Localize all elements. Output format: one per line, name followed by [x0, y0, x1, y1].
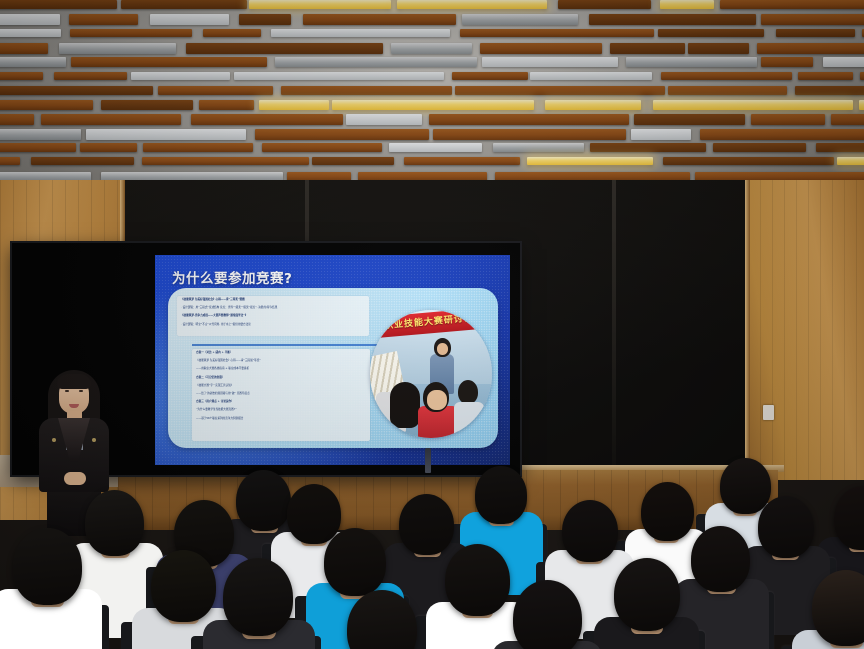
ceiling-slat	[663, 157, 834, 165]
ceiling-slat	[837, 157, 864, 165]
ceiling-slat	[101, 100, 193, 110]
ceiling-slat	[798, 72, 853, 80]
ceiling-slat	[346, 114, 422, 125]
ceiling-slat	[776, 29, 855, 37]
ceiling-slat	[86, 129, 246, 140]
ceiling-slat	[80, 143, 137, 152]
ceiling-slat	[391, 43, 472, 54]
right-wall-edge	[745, 180, 750, 480]
seated-audience	[0, 440, 864, 649]
ceiling-slat	[186, 43, 383, 54]
ceiling-slat	[0, 57, 66, 67]
ceiling-slat	[54, 72, 127, 80]
ceiling-slat	[761, 57, 813, 67]
ceiling-slat	[700, 129, 864, 140]
slide-text-line: ——基于56个职业系列的竞争力洞察报告	[192, 415, 370, 423]
ceiling-slat	[634, 114, 745, 125]
ceiling-slat	[275, 57, 477, 67]
ceiling-slat	[404, 157, 520, 165]
slide-title: 为什么要参加竞赛?	[172, 267, 292, 287]
ceiling-slat	[589, 14, 756, 25]
ceiling-slat	[462, 14, 578, 25]
ceiling-slat	[0, 0, 117, 9]
ceiling-slat	[332, 100, 534, 110]
ceiling-slat	[389, 143, 482, 152]
ceiling-slat	[0, 129, 81, 140]
ceiling-slat	[429, 114, 629, 125]
ceiling-slat	[590, 143, 706, 152]
ceiling-slat	[452, 72, 528, 80]
wall-outlet-right[interactable]	[763, 405, 774, 420]
ceiling-slat	[0, 72, 43, 80]
presenter-eye-left	[65, 390, 69, 392]
ceiling-slat	[59, 43, 176, 54]
ceiling-slat	[527, 157, 653, 165]
ceiling-slat	[249, 0, 391, 9]
ceiling-slat	[460, 29, 654, 37]
ceiling-slat	[493, 143, 584, 152]
classroom-inset-photo: 职业技能大赛研讨论坛	[370, 310, 492, 438]
ceiling-slat	[262, 143, 382, 152]
ceiling-slat	[143, 143, 253, 152]
slatted-ceiling	[0, 0, 864, 186]
slide-options-block: 方案一（对比 + 感内 + 平衡）《技能筑梦 为美好强国社会》心得——青''三段…	[192, 349, 370, 441]
slide-text-line: · 设计逻辑：用''三段式''论述结构 论点：世界一级奖一级奖''观点'', 决…	[177, 304, 369, 312]
ceiling-slat	[131, 72, 230, 80]
ceiling-slat	[0, 157, 20, 165]
ceiling-slat	[281, 86, 452, 95]
ceiling-slat	[757, 43, 864, 54]
photo-student-head	[390, 382, 420, 428]
ceiling-slat	[271, 29, 450, 37]
ceiling-slat	[0, 86, 153, 95]
ceiling-slat	[0, 114, 34, 125]
ceiling-slat	[31, 157, 134, 165]
ceiling-slat	[658, 29, 764, 37]
audience-member	[320, 590, 445, 649]
ceiling-slat	[626, 57, 757, 67]
ceiling-slat	[0, 14, 60, 25]
slide-text-line: ——给了'的初始的观思路与用''破'' 竞赛导起点	[192, 390, 370, 398]
ceiling-slat	[631, 129, 691, 140]
ceiling-slat	[816, 143, 864, 152]
ceiling-slat	[41, 114, 181, 125]
slide-text-line: 《技能筑梦 为美好强国社会》心得——青''三等奖''赛题	[177, 296, 369, 304]
back-wall-seam	[612, 180, 616, 480]
slide-text-line: 《技能大赛''字'' 实现工具认知》	[192, 382, 370, 390]
ceiling-slat	[397, 0, 547, 9]
ceiling-slat	[0, 29, 61, 37]
ceiling-slat	[455, 86, 665, 95]
ceiling-slat	[142, 157, 309, 165]
ceiling-slat	[688, 43, 749, 54]
right-wood-wall	[748, 180, 864, 480]
audience-member-head	[324, 528, 386, 596]
slide-text-line: 《技能筑梦·竞争力成局——大赛声要教师''通常面学法''》	[177, 312, 369, 320]
slide-divider	[192, 344, 377, 346]
audience-member-head	[475, 466, 527, 524]
presentation-slide: 为什么要参加竞赛? 《技能筑梦 为美好强国社会》心得——青''三等奖''赛题· …	[155, 255, 510, 465]
slide-content-card: 《技能筑梦 为美好强国社会》心得——青''三等奖''赛题· 设计逻辑：用''三段…	[168, 288, 498, 448]
audience-member-head	[562, 500, 618, 562]
ceiling-slat	[823, 57, 864, 67]
slide-top-text-block: 《技能筑梦 为美好强国社会》心得——青''三等奖''赛题· 设计逻辑：用''三段…	[177, 296, 369, 336]
slide-text-line: · 设计逻辑：明立''不言''以代词角, 用于水上''提供用要方法论	[177, 321, 369, 329]
ceiling-slat	[558, 0, 651, 9]
ceiling-slat	[831, 114, 864, 125]
ceiling-slat	[713, 143, 806, 152]
ceiling-slat	[203, 29, 261, 37]
ceiling-slat	[255, 129, 429, 140]
ceiling-slat	[720, 0, 864, 9]
ceiling-slat	[239, 14, 291, 25]
audience-member	[486, 580, 609, 649]
audience-member-head	[223, 558, 293, 636]
ceiling-slat	[795, 86, 864, 95]
ceiling-slat	[860, 72, 864, 80]
ceiling-slat	[482, 57, 618, 67]
ceiling-slat	[859, 100, 864, 110]
ceiling-slat	[70, 29, 192, 37]
ceiling-slat	[191, 114, 343, 125]
lecture-hall-photo: 为什么要参加竞赛? 《技能筑梦 为美好强国社会》心得——青''三等奖''赛题· …	[0, 0, 864, 649]
ceiling-slat	[158, 86, 273, 95]
ceiling-slat	[69, 14, 138, 25]
ceiling-slat	[545, 100, 641, 110]
audience-member	[786, 570, 864, 649]
ceiling-slat	[0, 100, 93, 110]
ceiling-slat	[751, 114, 825, 125]
ceiling-slat	[121, 0, 247, 9]
slide-text-line: ——用职业大赛各类指南 + 职业成本不要素析	[192, 365, 370, 373]
presenter-fringe	[57, 374, 91, 389]
audience-member	[0, 528, 109, 649]
ceiling-slat	[660, 0, 714, 9]
slide-text-line: 方案二（可记忆的创意）	[192, 374, 370, 382]
photo-student-side-head	[458, 380, 478, 404]
ceiling-slat	[0, 43, 48, 54]
presenter-eye-right	[79, 390, 83, 392]
ceiling-slat	[653, 100, 853, 110]
photo-student-side-body	[454, 402, 484, 438]
ceiling-slat	[610, 43, 685, 54]
photo-student-red-face	[427, 390, 447, 410]
slide-text-line: 《技能筑梦 为美好强国社会》心得——青''三段展''等奖''	[192, 357, 370, 365]
ceiling-slat	[303, 14, 456, 25]
ceiling-slat	[71, 57, 267, 67]
slide-text-line: 方案三（用户观点 + 讨论运作）	[192, 398, 370, 406]
ceiling-slat	[0, 143, 76, 152]
ceiling-slat	[530, 72, 652, 80]
audience-member-head	[13, 528, 82, 605]
audience-member	[196, 558, 321, 649]
audience-member-head	[614, 558, 680, 631]
audience-member-head	[347, 590, 417, 649]
ceiling-slat	[150, 14, 229, 25]
audience-member-head	[812, 570, 864, 646]
slide-text-line: ''为什么要教学生当技能大赛竞赛?''	[192, 406, 370, 414]
ceiling-slat	[259, 100, 329, 110]
ceiling-slat	[761, 14, 864, 25]
audience-member-head	[513, 580, 582, 649]
ceiling-slat	[433, 129, 626, 140]
ceiling-slat	[234, 72, 444, 80]
ceiling-slat	[312, 157, 394, 165]
ceiling-slat	[199, 100, 254, 110]
slide-text-line: 方案一（对比 + 感内 + 平衡）	[192, 349, 370, 357]
ceiling-slat	[668, 86, 787, 95]
photo-instructor-face	[437, 343, 448, 355]
ceiling-slat	[661, 72, 792, 80]
ceiling-slat	[480, 43, 602, 54]
